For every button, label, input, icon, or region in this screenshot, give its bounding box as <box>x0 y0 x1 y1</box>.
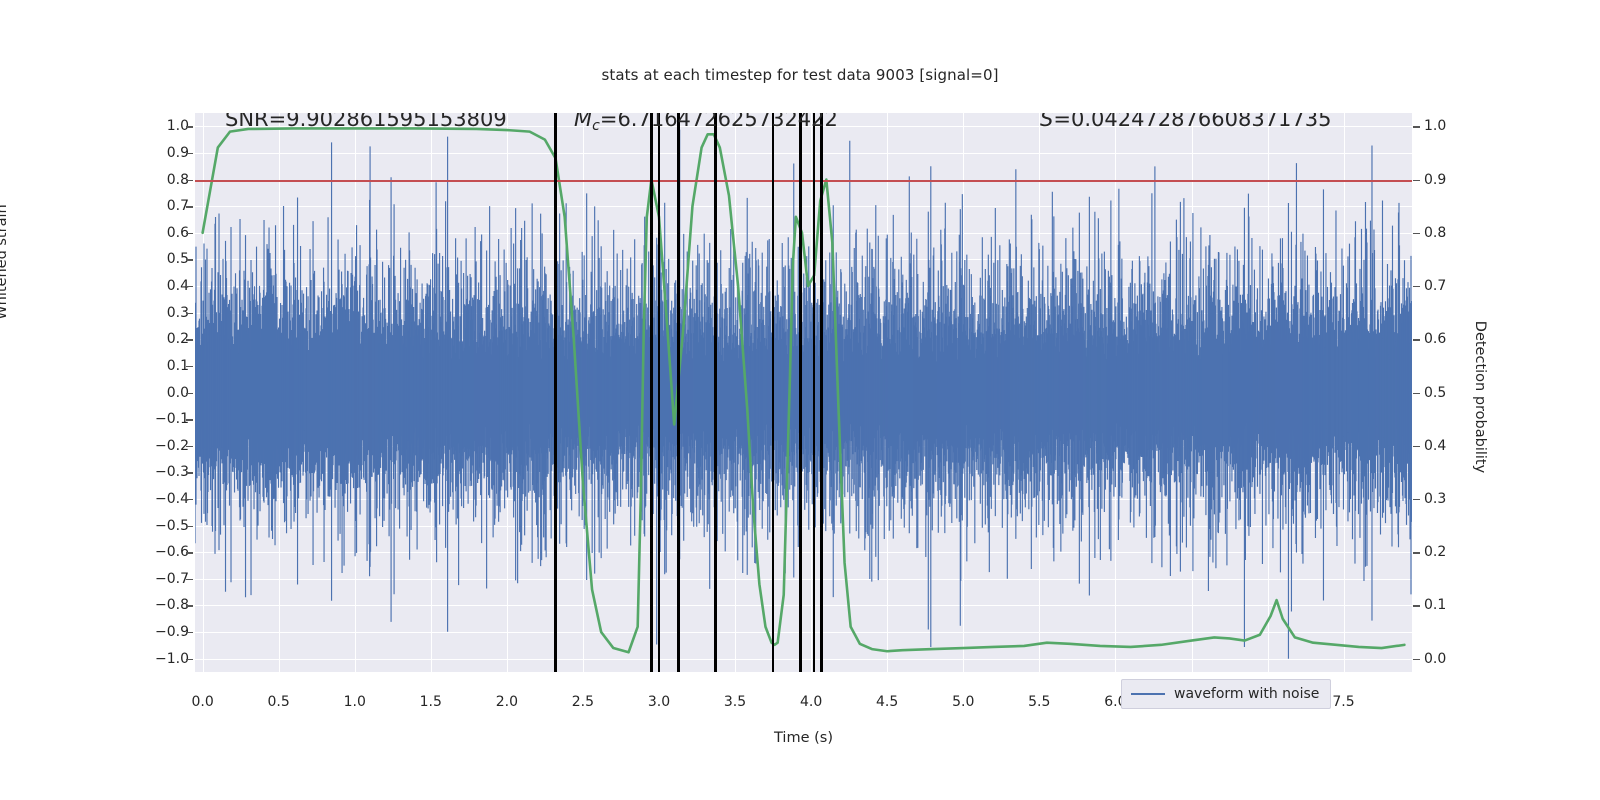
y-tick-mark-left <box>186 419 193 420</box>
y-tick-label-left: −0.4 <box>155 491 189 507</box>
y-tick-mark-left <box>186 180 193 181</box>
x-tick-label: 5.0 <box>952 694 974 710</box>
x-tick-label: 2.0 <box>496 694 518 710</box>
s-annotation: S=0.042472876608371735 <box>1040 113 1331 131</box>
plot-area[interactable]: SNR=9.902861595153809 Mc=6.7164726257324… <box>195 113 1412 672</box>
x-tick-label: 3.0 <box>648 694 670 710</box>
y-tick-label-right: 0.8 <box>1424 225 1446 241</box>
y-tick-mark-right <box>1413 339 1420 340</box>
y-tick-mark-left <box>186 472 193 473</box>
s-equals: = <box>1053 113 1071 131</box>
vertical-marker-line <box>820 113 823 672</box>
x-tick-label: 0.0 <box>191 694 213 710</box>
y-tick-mark-left <box>186 366 193 367</box>
legend-label: waveform with noise <box>1174 686 1319 702</box>
y-tick-label-right: 0.6 <box>1424 331 1446 347</box>
y-tick-mark-right <box>1413 659 1420 660</box>
vertical-marker-line <box>554 113 557 672</box>
y-tick-mark-left <box>186 126 193 127</box>
y-tick-mark-left <box>186 446 193 447</box>
y-tick-label-right: 0.5 <box>1424 385 1446 401</box>
y-tick-mark-right <box>1413 180 1420 181</box>
vertical-marker-line <box>677 113 680 672</box>
x-tick-label: 1.5 <box>420 694 442 710</box>
mc-subscript: c <box>592 118 600 134</box>
legend[interactable]: waveform with noise <box>1121 679 1331 709</box>
y-tick-mark-right <box>1413 499 1420 500</box>
vertical-marker-line <box>714 113 717 672</box>
detection-probability-path <box>203 128 1405 652</box>
detection-probability-series <box>195 113 1412 672</box>
figure-canvas: stats at each timestep for test data 900… <box>0 0 1600 800</box>
x-axis-label: Time (s) <box>195 730 1412 746</box>
s-symbol: S <box>1040 113 1053 131</box>
y-tick-mark-left <box>186 659 193 660</box>
s-value: 0.042472876608371735 <box>1071 113 1332 131</box>
y-tick-mark-right <box>1413 233 1420 234</box>
chart-title: stats at each timestep for test data 900… <box>0 66 1600 84</box>
y-tick-label-left: −0.5 <box>155 518 189 534</box>
y-tick-mark-left <box>186 526 193 527</box>
y-tick-mark-right <box>1413 605 1420 606</box>
y-tick-mark-right <box>1413 446 1420 447</box>
x-tick-label: 5.5 <box>1028 694 1050 710</box>
y-tick-label-left: −0.8 <box>155 597 189 613</box>
x-tick-label: 4.5 <box>876 694 898 710</box>
y-tick-label-left: −0.2 <box>155 438 189 454</box>
x-tick-label: 0.5 <box>268 694 290 710</box>
y-tick-mark-left <box>186 393 193 394</box>
snr-annotation: SNR=9.902861595153809 <box>225 113 507 131</box>
y-tick-mark-left <box>186 605 193 606</box>
y-tick-label-left: −0.1 <box>155 411 189 427</box>
y-tick-label-left: −0.6 <box>155 544 189 560</box>
mc-annotation: Mc=6.716472625732422 <box>574 113 838 134</box>
y-tick-mark-left <box>186 339 193 340</box>
y-tick-label-right: 0.4 <box>1424 438 1446 454</box>
mc-symbol: M <box>574 113 592 131</box>
y-tick-mark-right <box>1413 286 1420 287</box>
x-tick-label: 1.0 <box>344 694 366 710</box>
mc-value: 6.716472625732422 <box>617 113 837 131</box>
x-tick-label: 2.5 <box>572 694 594 710</box>
y-tick-label-right: 1.0 <box>1424 118 1446 134</box>
y-tick-label-right: 0.3 <box>1424 491 1446 507</box>
y-tick-label-left: −1.0 <box>155 651 189 667</box>
y-tick-label-left: −0.3 <box>155 464 189 480</box>
y-tick-mark-right <box>1413 552 1420 553</box>
y-tick-mark-left <box>186 206 193 207</box>
y-tick-label-right: 0.2 <box>1424 544 1446 560</box>
y-tick-label-left: −0.7 <box>155 571 189 587</box>
legend-line-swatch <box>1131 693 1165 695</box>
x-tick-label: 4.0 <box>800 694 822 710</box>
vertical-marker-line <box>813 113 816 672</box>
y-tick-mark-left <box>186 286 193 287</box>
y-tick-label-right: 0.9 <box>1424 172 1446 188</box>
threshold-line <box>195 180 1412 182</box>
y-axis-right-label: Detection probability <box>1472 247 1488 547</box>
y-tick-mark-left <box>186 313 193 314</box>
y-tick-mark-left <box>186 552 193 553</box>
y-tick-label-right: 0.0 <box>1424 651 1446 667</box>
y-tick-label-left: −0.9 <box>155 624 189 640</box>
vertical-marker-line <box>799 113 802 672</box>
snr-text: SNR=9.902861595153809 <box>225 113 507 131</box>
y-tick-mark-left <box>186 259 193 260</box>
y-tick-mark-left <box>186 499 193 500</box>
y-axis-left-label: Whitened strain <box>0 132 10 392</box>
vertical-marker-line <box>658 113 661 672</box>
vertical-marker-line <box>772 113 775 672</box>
y-tick-label-right: 0.1 <box>1424 597 1446 613</box>
y-tick-mark-left <box>186 153 193 154</box>
vertical-marker-line <box>650 113 653 672</box>
y-tick-label-right: 0.7 <box>1424 278 1446 294</box>
x-tick-label: 3.5 <box>724 694 746 710</box>
y-tick-mark-right <box>1413 393 1420 394</box>
x-tick-label: 7.5 <box>1332 694 1354 710</box>
mc-equals: = <box>600 113 618 131</box>
y-tick-mark-left <box>186 579 193 580</box>
y-tick-mark-left <box>186 233 193 234</box>
y-tick-mark-left <box>186 632 193 633</box>
y-tick-mark-right <box>1413 126 1420 127</box>
